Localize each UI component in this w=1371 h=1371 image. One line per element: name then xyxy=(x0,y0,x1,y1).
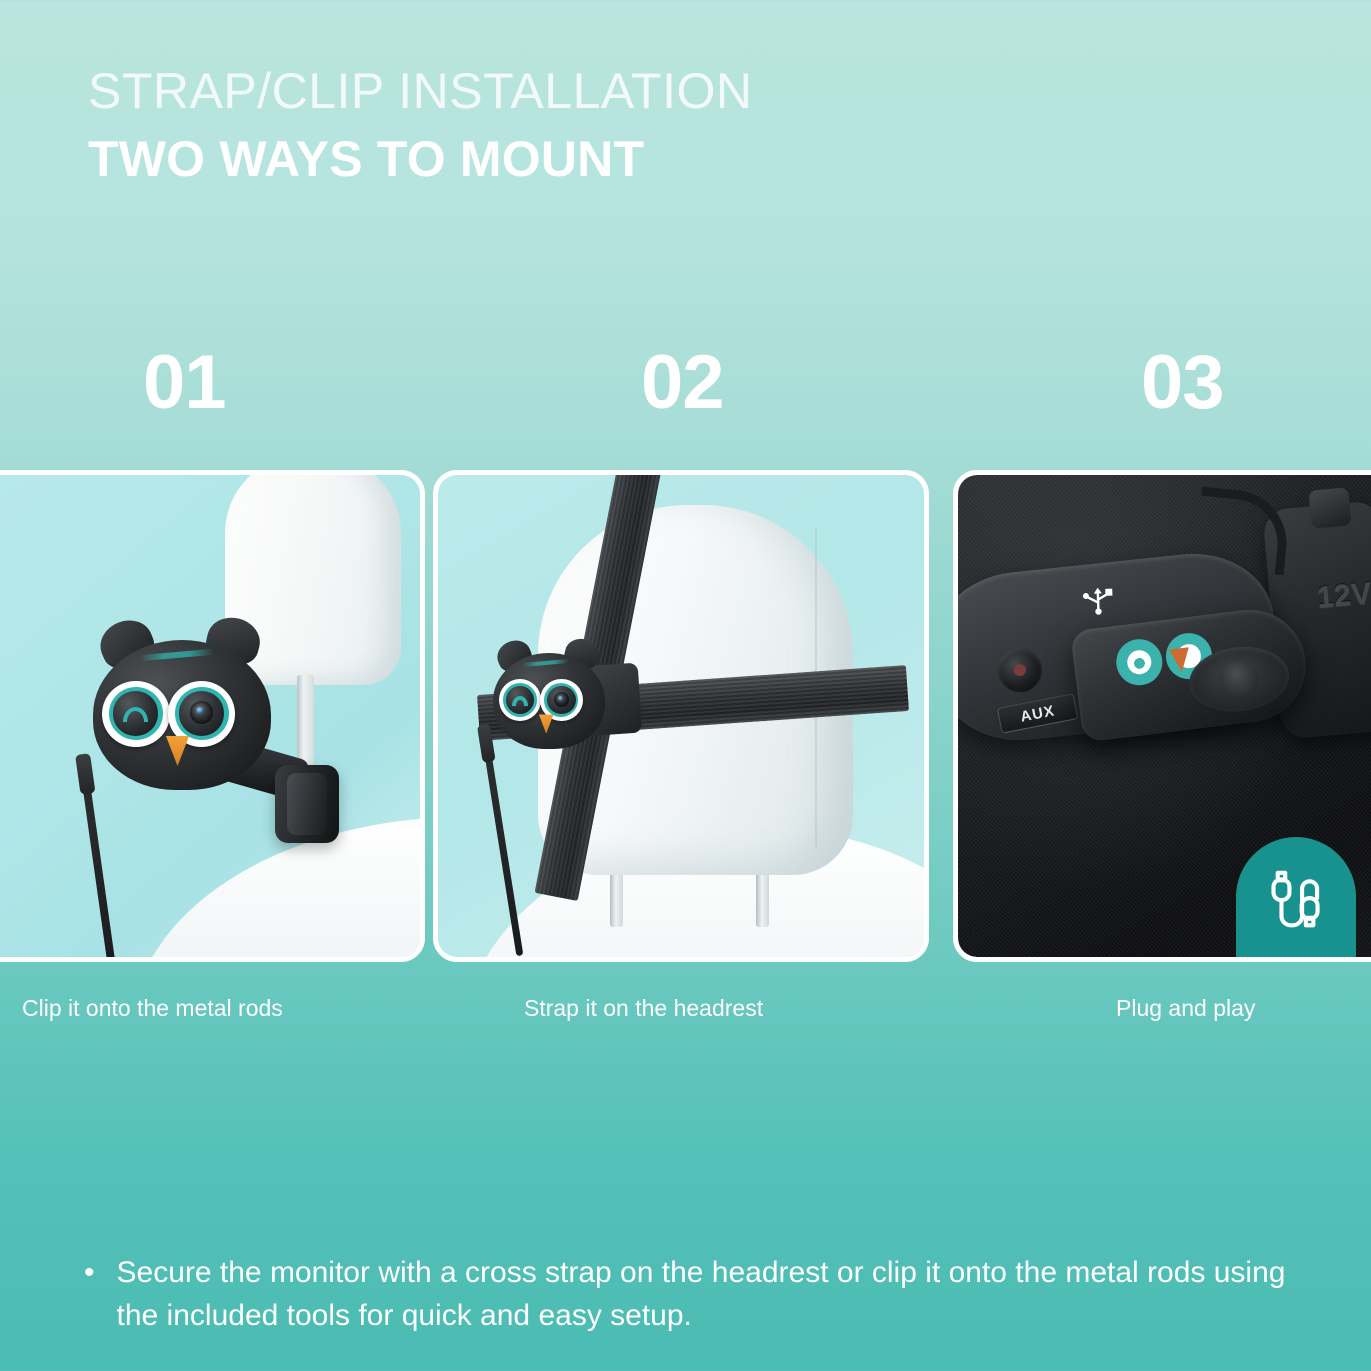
page-header: STRAP/CLIP INSTALLATION TWO WAYS TO MOUN… xyxy=(88,62,752,191)
step-caption-01: Clip it onto the metal rods xyxy=(22,995,283,1022)
owl-eye-left-teal-ring xyxy=(503,683,537,717)
step-number-03: 03 xyxy=(1141,345,1224,421)
owl-eye-right-housing xyxy=(179,691,224,735)
step-captions: Clip it onto the metal rods Strap it on … xyxy=(0,995,1371,1035)
usb-cable-badge xyxy=(1236,837,1356,957)
step-image-03-scene: 12V A xyxy=(958,475,1371,957)
page-title: TWO WAYS TO MOUNT xyxy=(88,128,752,191)
step-image-02 xyxy=(433,470,929,962)
step-caption-02: Strap it on the headrest xyxy=(524,995,763,1022)
socket-label: 12V xyxy=(1316,577,1371,616)
camera-lens xyxy=(554,692,569,707)
footnote: • Secure the monitor with a cross strap … xyxy=(84,1252,1294,1337)
header-eyebrow: STRAP/CLIP INSTALLATION xyxy=(88,62,752,121)
owl-eye-left-teal-ring xyxy=(109,687,163,740)
step-image-01-scene xyxy=(0,475,420,957)
owl-eye-left-pupil xyxy=(113,691,158,735)
socket-cap xyxy=(1308,487,1351,528)
usb-icon xyxy=(1076,585,1121,617)
rod-clamp xyxy=(275,765,339,843)
step-caption-03: Plug and play xyxy=(1116,995,1255,1022)
step-number-02: 02 xyxy=(641,345,724,421)
bullet-marker: • xyxy=(84,1252,95,1295)
owl-eye-right-teal-ring xyxy=(175,687,229,740)
usb-cable-icon xyxy=(1266,866,1326,934)
owl-eye-right-housing xyxy=(547,686,576,714)
step-image-02-scene xyxy=(438,475,924,957)
camera-lens xyxy=(190,701,214,724)
step-image-03: 12V A xyxy=(953,470,1371,962)
owl-wink-arc-icon xyxy=(512,696,528,706)
owl-camera xyxy=(93,640,271,790)
aux-label: AUX xyxy=(997,693,1079,733)
aux-jack-port xyxy=(996,646,1044,694)
footnote-text: Secure the monitor with a cross strap on… xyxy=(117,1252,1294,1337)
step-number-01: 01 xyxy=(143,345,226,421)
step-numbers: 01 02 03 xyxy=(0,345,1371,435)
owl-wink-arc-icon xyxy=(123,707,148,722)
step-image-01 xyxy=(0,470,425,962)
step-image-panels: 12V A xyxy=(0,470,1371,962)
owl-eye-left-pupil xyxy=(506,686,535,714)
owl-eye-right-teal-ring xyxy=(544,683,578,717)
dongle-eye-left xyxy=(1114,637,1165,688)
owl-eye-left xyxy=(499,679,542,721)
owl-eye-left xyxy=(102,681,170,747)
owl-camera xyxy=(493,653,605,749)
